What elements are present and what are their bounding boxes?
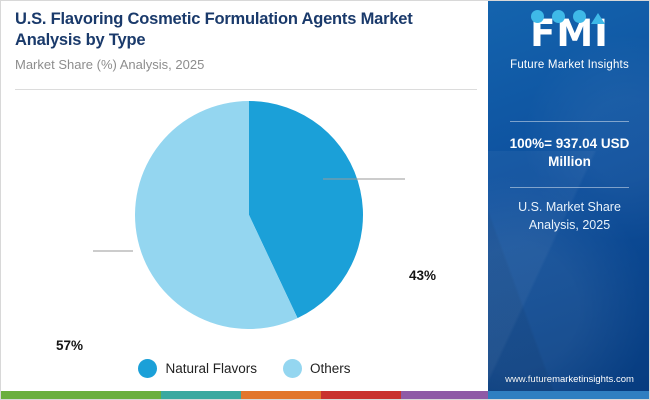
page-title: U.S. Flavoring Cosmetic Formulation Agen… <box>15 9 475 50</box>
footer-bar-segment <box>488 391 650 399</box>
infographic-slide: U.S. Flavoring Cosmetic Formulation Agen… <box>0 0 650 400</box>
footer-bar-segment <box>241 391 321 399</box>
brand-panel: FMI Future Market Insights 100%= 937.04 … <box>488 1 650 393</box>
footer-bar-segment <box>401 391 488 399</box>
chart-legend: Natural Flavors Others <box>1 359 488 378</box>
footer-bar-segment <box>1 391 161 399</box>
brand-divider-mid <box>510 187 629 188</box>
footer-bar-segment <box>161 391 241 399</box>
logo-mark: FMI <box>509 11 631 57</box>
legend-item-others[interactable]: Others <box>283 359 351 378</box>
pie-label-43: 43% <box>409 268 436 283</box>
logo-dots-icon <box>531 10 609 24</box>
logo-arrow-icon <box>591 13 605 24</box>
pie-label-57: 57% <box>56 338 83 353</box>
legend-swatch-icon <box>138 359 157 378</box>
footer-color-bar <box>1 391 650 399</box>
pie-chart: 43% 57% <box>1 93 488 345</box>
legend-label-others: Others <box>310 361 351 376</box>
brand-divider-top <box>510 121 629 122</box>
total-caption: U.S. Market Share Analysis, 2025 <box>496 199 643 234</box>
page-subtitle: Market Share (%) Analysis, 2025 <box>15 57 475 72</box>
total-value: 100%= 937.04 USD Million <box>496 135 643 171</box>
logo-tagline: Future Market Insights <box>488 59 650 71</box>
legend-swatch-icon <box>283 359 302 378</box>
website-url[interactable]: www.futuremarketinsights.com <box>488 374 650 385</box>
footer-bar-segment <box>321 391 401 399</box>
chart-panel: U.S. Flavoring Cosmetic Formulation Agen… <box>1 1 488 393</box>
title-block: U.S. Flavoring Cosmetic Formulation Agen… <box>15 9 475 72</box>
title-divider <box>15 89 477 90</box>
legend-label-natural-flavors: Natural Flavors <box>165 361 257 376</box>
legend-item-natural-flavors[interactable]: Natural Flavors <box>138 359 257 378</box>
fmi-logo: FMI Future Market Insights <box>488 11 650 71</box>
leader-lines <box>1 93 488 345</box>
